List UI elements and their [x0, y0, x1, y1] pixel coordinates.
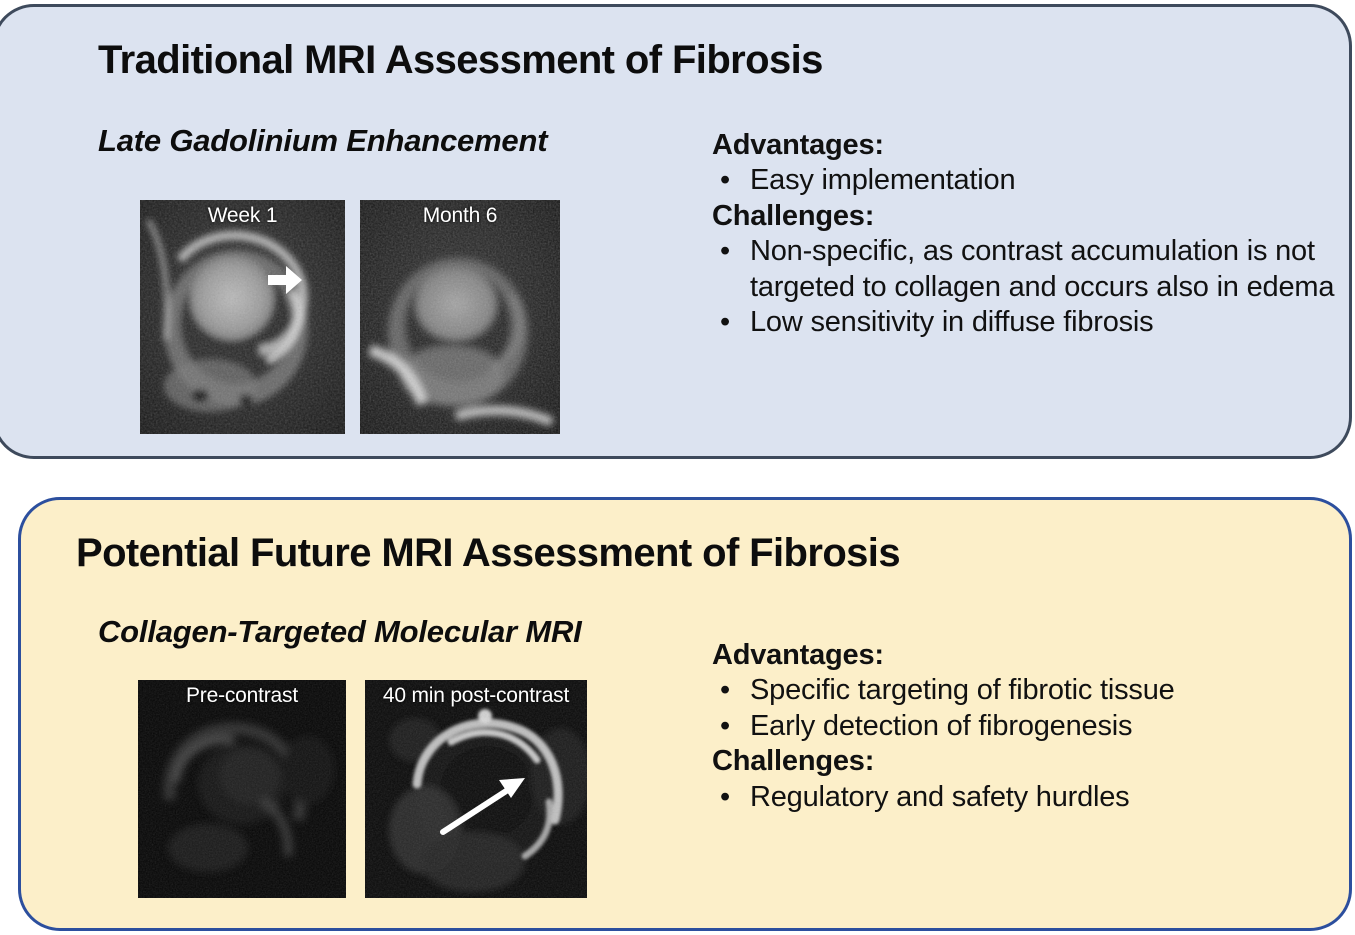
advantage-item: • Early detection of fibrogenesis	[712, 709, 1342, 744]
challenge-text: Regulatory and safety hurdles	[750, 780, 1129, 815]
challenges-heading-future: Challenges:	[712, 744, 1342, 779]
bullet-glyph: •	[712, 709, 750, 744]
advantage-text: Specific targeting of fibrotic tissue	[750, 673, 1175, 708]
mri-scan-graphic-week-1	[140, 200, 345, 434]
mri-image-month-6: Month 6	[360, 200, 560, 434]
bullet-glyph: •	[712, 673, 750, 708]
panel-traditional-subtitle: Late Gadolinium Enhancement	[98, 123, 547, 159]
bullet-glyph: •	[712, 305, 750, 340]
panel-future-subtitle: Collagen-Targeted Molecular MRI	[98, 614, 582, 650]
bullet-glyph: •	[712, 163, 750, 198]
panel-traditional-title: Traditional MRI Assessment of Fibrosis	[98, 38, 823, 83]
advantage-text: Early detection of fibrogenesis	[750, 709, 1132, 744]
mri-caption-week-1: Week 1	[140, 204, 345, 228]
challenge-text: Non-specific, as contrast accumulation i…	[750, 234, 1342, 305]
challenge-text: Low sensitivity in diffuse fibrosis	[750, 305, 1153, 340]
mri-image-post-contrast: 40 min post-contrast	[365, 680, 587, 898]
advantages-heading-future: Advantages:	[712, 638, 1342, 673]
bullet-glyph: •	[712, 234, 750, 269]
bullet-glyph: •	[712, 780, 750, 815]
advantage-item: • Specific targeting of fibrotic tissue	[712, 673, 1342, 708]
mri-image-pre-contrast: Pre-contrast	[138, 680, 346, 898]
mri-scan-graphic-post-contrast	[365, 680, 587, 898]
info-block-future: Advantages: • Specific targeting of fibr…	[712, 638, 1342, 815]
mri-image-week-1: Week 1	[140, 200, 345, 434]
mri-scan-graphic-pre-contrast	[138, 680, 346, 898]
challenge-item: • Low sensitivity in diffuse fibrosis	[712, 305, 1342, 340]
info-block-traditional: Advantages: • Easy implementation Challe…	[712, 128, 1342, 340]
mri-caption-pre-contrast: Pre-contrast	[138, 684, 346, 708]
challenges-heading-traditional: Challenges:	[712, 199, 1342, 234]
advantage-text: Easy implementation	[750, 163, 1015, 198]
challenge-item: • Regulatory and safety hurdles	[712, 780, 1342, 815]
mri-caption-post-contrast: 40 min post-contrast	[365, 684, 587, 708]
panel-future-title: Potential Future MRI Assessment of Fibro…	[76, 531, 900, 576]
advantages-heading-traditional: Advantages:	[712, 128, 1342, 163]
advantage-item: • Easy implementation	[712, 163, 1342, 198]
mri-scan-graphic-month-6	[360, 200, 560, 434]
mri-caption-month-6: Month 6	[360, 204, 560, 228]
challenge-item: • Non-specific, as contrast accumulation…	[712, 234, 1342, 305]
